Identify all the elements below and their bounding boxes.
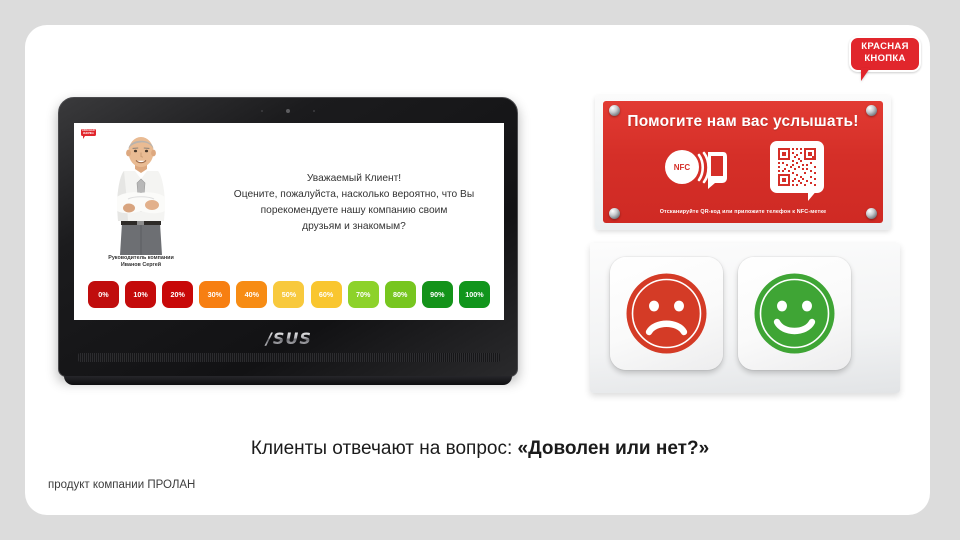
survey-question: Уважаемый Клиент! Оцените, пожалуйста, н…	[209, 171, 499, 235]
sign-plate: Помогите нам вас услышать! NFC	[595, 95, 891, 230]
survey-line-3: порекомендуете нашу компанию своим	[209, 203, 499, 219]
nps-button-50pct[interactable]: 50%	[273, 281, 304, 308]
nps-button-40pct[interactable]: 40%	[236, 281, 267, 308]
manager-photo	[104, 135, 178, 255]
nps-button-90pct[interactable]: 90%	[422, 281, 453, 308]
qr-bubble-tail	[808, 189, 818, 201]
happy-face-icon	[753, 272, 836, 355]
brand-logo-line2: КНОПКА	[864, 53, 905, 64]
brand-logo-tail	[861, 68, 875, 81]
brand-logo-text: КРАСНАЯ КНОПКА	[849, 41, 921, 64]
survey-line-4: друзьям и знакомым?	[209, 219, 499, 235]
survey-line-1: Уважаемый Клиент!	[209, 171, 499, 187]
asus-logo: /SUS	[74, 329, 504, 348]
webcam-icon	[286, 109, 290, 113]
qr-code-icon	[776, 146, 818, 188]
nps-button-0pct[interactable]: 0%	[88, 281, 119, 308]
caption-prefix: Клиенты отвечают на вопрос:	[251, 438, 518, 459]
sad-face-icon	[625, 272, 708, 355]
nps-rating-scale: 0%10%20%30%40%50%60%70%80%90%100%	[88, 281, 490, 308]
nps-button-30pct[interactable]: 30%	[199, 281, 230, 308]
monitor-bezel: КРАСНАЯ КНОПКА	[58, 97, 518, 377]
sign-footer-text: Отсканируйте QR-код или приложите телефо…	[603, 209, 883, 215]
happy-face-button[interactable]	[738, 257, 851, 370]
screw-bottom-left	[609, 208, 620, 219]
screen-brand-logo: КРАСНАЯ КНОПКА	[80, 128, 97, 140]
sensor-dot-right	[313, 110, 315, 112]
screen-brand-logo-tail	[83, 136, 86, 139]
asus-all-in-one-monitor: КРАСНАЯ КНОПКА	[58, 97, 518, 392]
sign-red-panel: Помогите нам вас услышать! NFC	[603, 101, 883, 223]
sign-icon-row: NFC	[603, 141, 883, 203]
speaker-grille	[78, 353, 500, 362]
survey-line-2: Оцените, пожалуйста, насколько вероятно,…	[209, 187, 499, 203]
manager-name: Иванов Сергей	[121, 262, 161, 268]
nps-button-60pct[interactable]: 60%	[311, 281, 342, 308]
svg-text:NFC: NFC	[674, 163, 691, 172]
slide-root: КРАСНАЯ КНОПКА КРАСНАЯ КНОПКА	[0, 0, 960, 540]
nps-button-80pct[interactable]: 80%	[385, 281, 416, 308]
monitor-chin: /SUS	[74, 323, 504, 365]
nps-button-70pct[interactable]: 70%	[348, 281, 379, 308]
screen-brand-logo-text: КРАСНАЯ КНОПКА	[80, 129, 97, 135]
nps-button-20pct[interactable]: 20%	[162, 281, 193, 308]
sign-title: Помогите нам вас услышать!	[603, 113, 883, 131]
sad-face-button[interactable]	[610, 257, 723, 370]
brand-logo-line1: КРАСНАЯ	[861, 41, 908, 52]
monitor-screen: КРАСНАЯ КНОПКА	[74, 123, 504, 320]
screen-brand-line2: КНОПКА	[83, 132, 94, 135]
screw-bottom-right	[866, 208, 877, 219]
manager-role: Руководитель компании	[108, 255, 174, 261]
screw-top-left	[609, 105, 620, 116]
sensor-dot-left	[261, 110, 263, 112]
footnote: продукт компании ПРОЛАН	[48, 479, 195, 491]
nps-button-10pct[interactable]: 10%	[125, 281, 156, 308]
nps-button-100pct[interactable]: 100%	[459, 281, 490, 308]
button-board	[590, 243, 900, 393]
screw-top-right	[866, 105, 877, 116]
feedback-kiosk: Помогите нам вас услышать! NFC	[590, 95, 900, 400]
nfc-icon: NFC	[663, 145, 729, 195]
slide-caption: Клиенты отвечают на вопрос: «Доволен или…	[0, 438, 960, 460]
qr-code-bubble	[770, 141, 830, 203]
caption-emphasis: «Доволен или нет?»	[518, 438, 710, 459]
manager-caption: Руководитель компании Иванов Сергей	[82, 255, 200, 269]
monitor-base	[64, 376, 512, 385]
brand-logo: КРАСНАЯ КНОПКА	[849, 36, 921, 84]
